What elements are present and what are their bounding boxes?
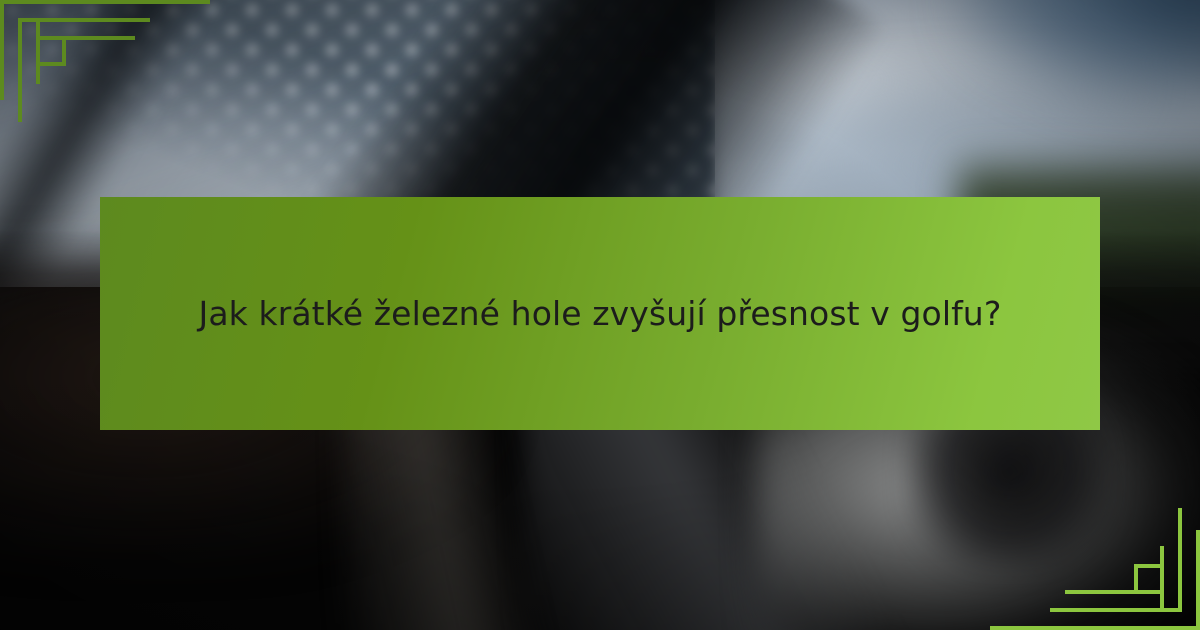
headline-banner: Jak krátké železné hole zvyšují přesnost…: [100, 197, 1100, 430]
share-card: Jak krátké železné hole zvyšují přesnost…: [0, 0, 1200, 630]
page-title: Jak krátké železné hole zvyšují přesnost…: [190, 287, 1010, 340]
